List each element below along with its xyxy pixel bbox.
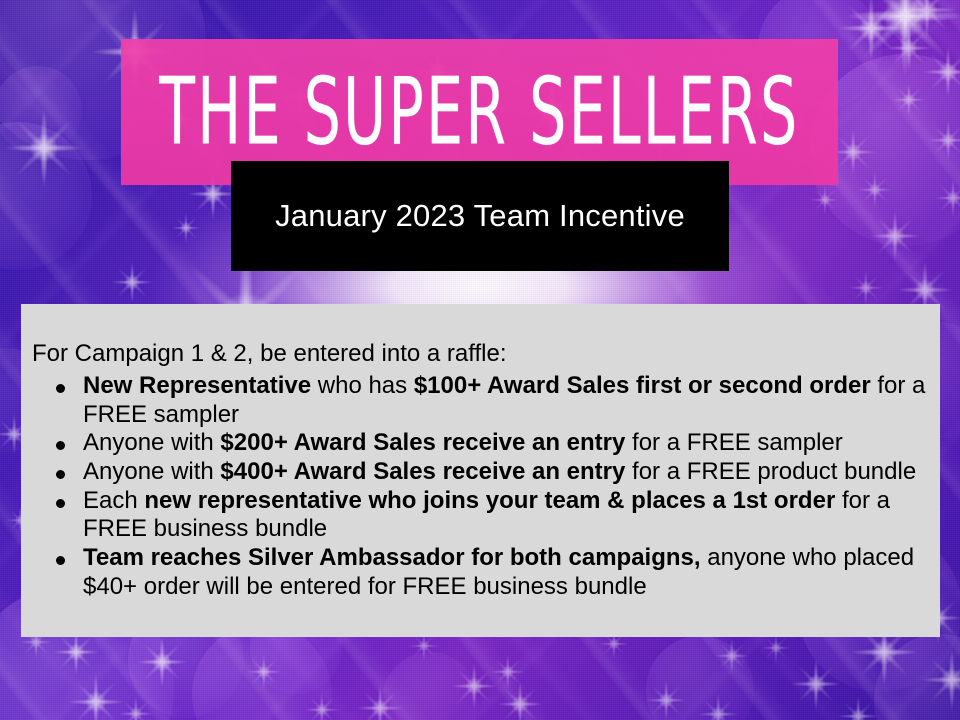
bullet-text: Each	[83, 487, 144, 514]
subtitle-box: January 2023 Team Incentive	[231, 161, 729, 271]
bullet-silver-ambassador: Team reaches Silver Ambassador for both …	[32, 544, 932, 601]
subtitle-text: January 2023 Team Incentive	[275, 198, 685, 234]
bullet-emphasis-text: Team reaches Silver Ambassador for both …	[83, 544, 701, 571]
bullet-dot-icon	[56, 499, 65, 508]
presentation-slide: THE SUPER SELLERS January 2023 Team Ince…	[0, 0, 960, 720]
bullet-text: Anyone with	[83, 458, 220, 485]
intro-text: For Campaign 1 & 2, be entered into a ra…	[32, 342, 507, 366]
bullet-new-representative: New Representative who has $100+ Award S…	[32, 372, 932, 429]
bullet-new-rep-joins-team: Each new representative who joins your t…	[32, 487, 932, 544]
bullet-emphasis-text: new representative who joins your team &…	[144, 487, 835, 514]
bullet-text: for a FREE sampler	[625, 429, 842, 456]
page-title: THE SUPER SELLERS	[159, 66, 799, 159]
bullet-200-award-sales: Anyone with $200+ Award Sales receive an…	[32, 429, 932, 458]
bullet-400-award-sales: Anyone with $400+ Award Sales receive an…	[32, 458, 932, 487]
bullet-emphasis-text: $100+ Award Sales first or second order	[414, 372, 871, 399]
bullet-text: for a FREE product bundle	[625, 458, 916, 485]
bullet-emphasis-text: $200+ Award Sales receive an entry	[220, 429, 625, 456]
bullet-dot-icon	[56, 441, 65, 450]
bullet-text: who has	[318, 372, 414, 399]
incentive-bullet-list: New Representative who has $100+ Award S…	[32, 372, 932, 601]
bullet-dot-icon	[56, 384, 65, 393]
bullet-dot-icon	[56, 556, 65, 565]
bullet-text: Anyone with	[83, 429, 220, 456]
bullet-dot-icon	[56, 470, 65, 479]
bullet-emphasis-text: New Representative	[83, 372, 318, 399]
content-panel: For Campaign 1 & 2, be entered into a ra…	[21, 304, 940, 637]
bullet-emphasis-text: $400+ Award Sales receive an entry	[220, 458, 625, 485]
